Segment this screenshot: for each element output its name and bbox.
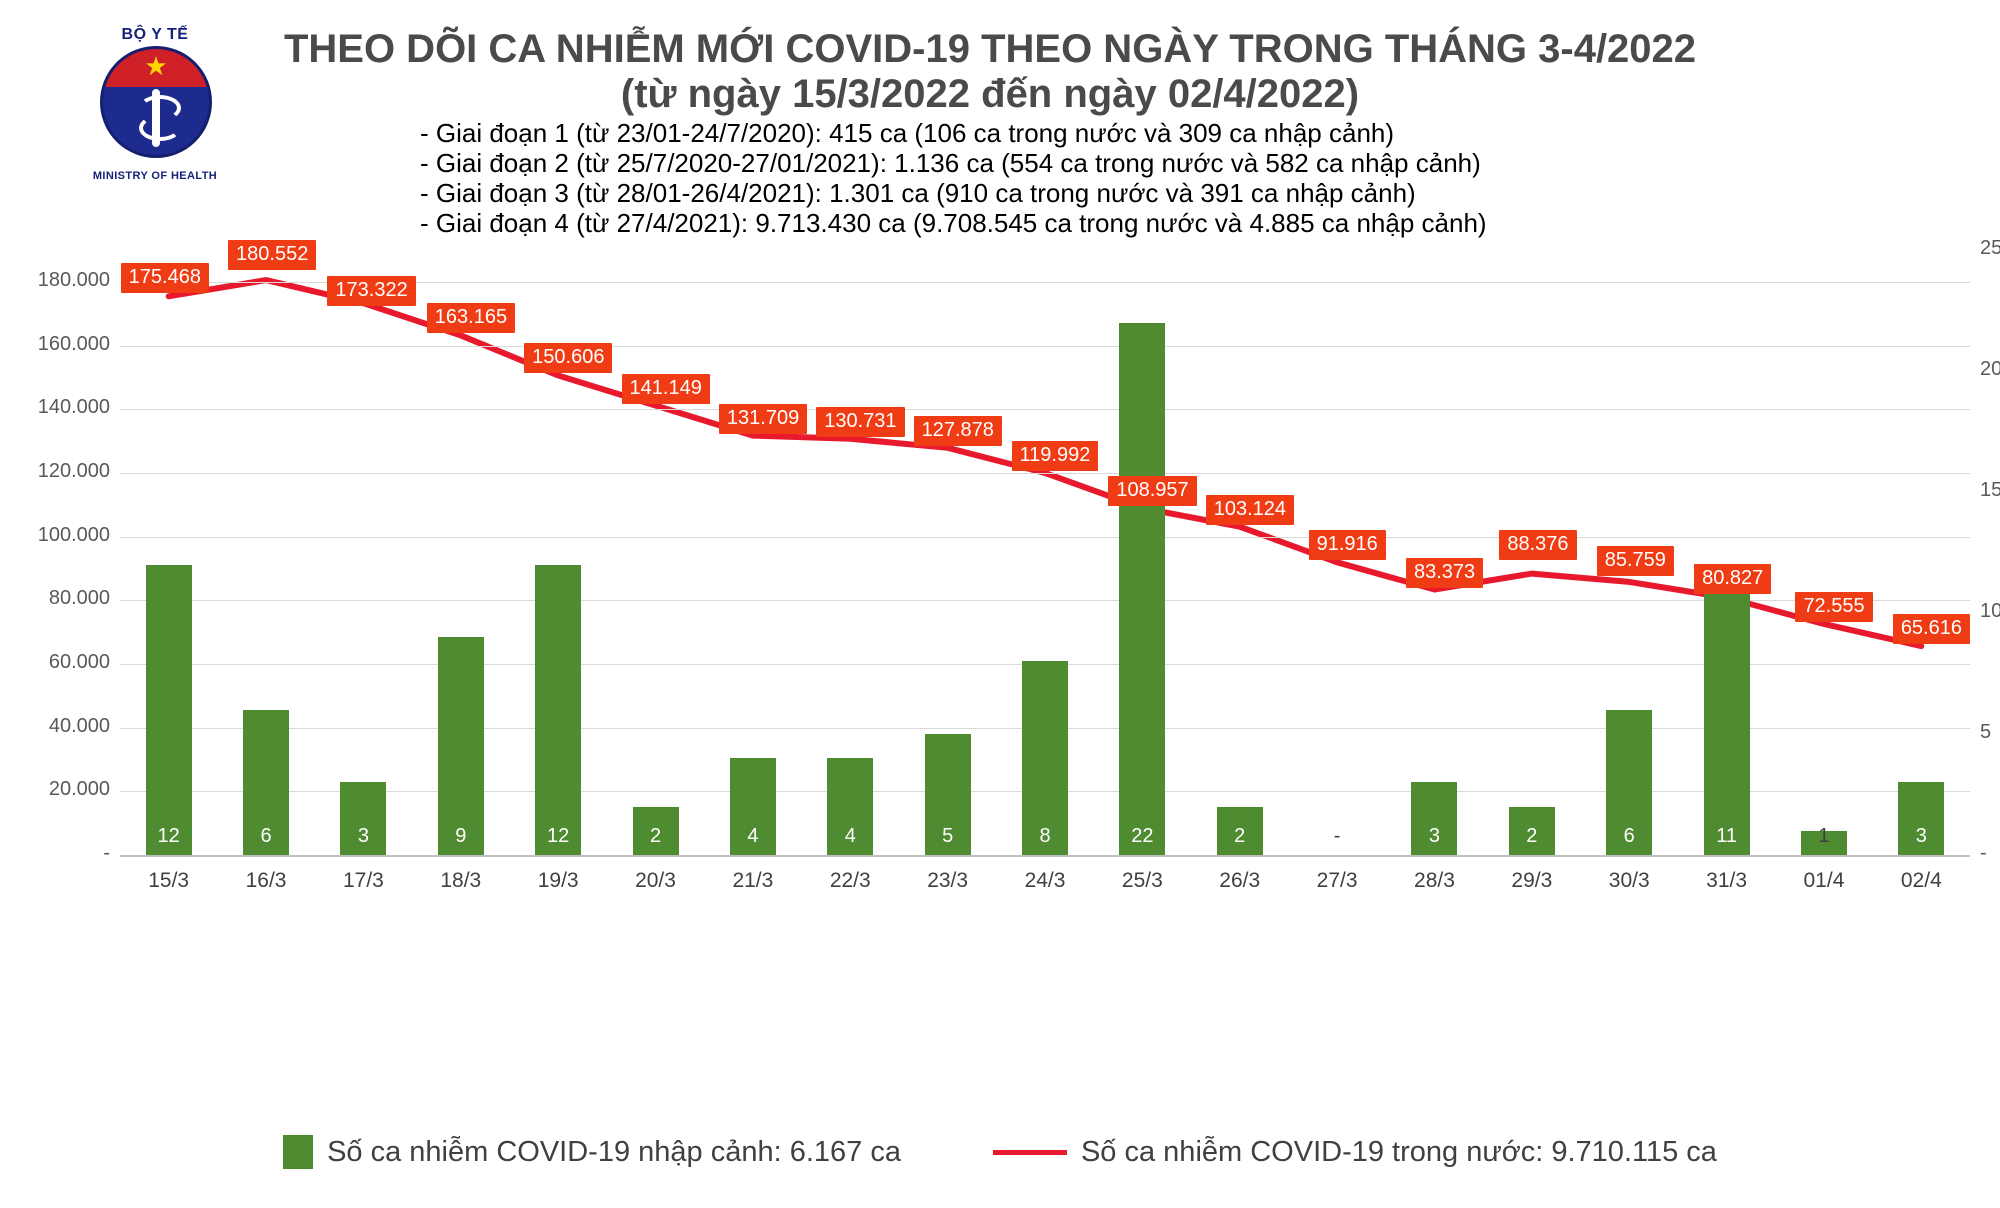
x-axis-tick-label: 24/3 xyxy=(1000,869,1090,893)
bar-value-label: 4 xyxy=(730,825,776,848)
x-axis-tick-label: 17/3 xyxy=(318,869,408,893)
line-value-label: 72.555 xyxy=(1795,592,1872,622)
logo-emblem-icon: ★ xyxy=(100,46,212,158)
x-axis-tick-label: 31/3 xyxy=(1682,869,1772,893)
x-axis-tick-label: 19/3 xyxy=(513,869,603,893)
legend-item-domestic: Số ca nhiễm COVID-19 trong nước: 9.710.1… xyxy=(993,1136,1717,1169)
x-axis-tick-label: 21/3 xyxy=(708,869,798,893)
x-axis-tick-label: 30/3 xyxy=(1584,869,1674,893)
y-axis-left-tick: 120.000 xyxy=(0,460,110,483)
x-axis-tick-label: 22/3 xyxy=(805,869,895,893)
phase-line-4: - Giai đoạn 4 (từ 27/4/2021): 9.713.430 … xyxy=(400,208,1700,238)
y-axis-left-tick: 20.000 xyxy=(0,778,110,801)
x-axis-tick-label: 15/3 xyxy=(124,869,214,893)
bar-value-label: 3 xyxy=(1898,825,1944,848)
line-value-label: 150.606 xyxy=(524,343,612,373)
gridline xyxy=(120,473,1970,474)
bar xyxy=(146,565,192,855)
line-value-label: 180.552 xyxy=(228,240,316,270)
line-value-label: 65.616 xyxy=(1893,614,1970,644)
y-axis-right-tick: 20 xyxy=(1980,358,2000,381)
chart-title: THEO DÕI CA NHIỄM MỚI COVID-19 THEO NGÀY… xyxy=(240,26,1740,73)
bar-value-label: 22 xyxy=(1119,825,1165,848)
line-value-label: 130.731 xyxy=(816,407,904,437)
bar-value-label: 2 xyxy=(1509,825,1555,848)
x-axis-tick-label: 29/3 xyxy=(1487,869,1577,893)
asclepius-snake-icon xyxy=(152,89,160,147)
line-value-label: 131.709 xyxy=(719,404,807,434)
x-axis-tick-label: 28/3 xyxy=(1389,869,1479,893)
bar-value-label: 9 xyxy=(438,825,484,848)
line-value-label: 91.916 xyxy=(1309,530,1386,560)
line-value-label: 127.878 xyxy=(914,416,1002,446)
domestic-cases-line-series xyxy=(0,240,2000,1120)
star-icon: ★ xyxy=(144,51,167,81)
phase-summary-list: - Giai đoạn 1 (từ 23/01-24/7/2020): 415 … xyxy=(400,118,1700,238)
line-value-label: 108.957 xyxy=(1108,476,1196,506)
x-axis-tick-label: 01/4 xyxy=(1779,869,1869,893)
y-axis-left-tick: 80.000 xyxy=(0,587,110,610)
line-value-label: 141.149 xyxy=(622,374,710,404)
y-axis-left-tick: 100.000 xyxy=(0,524,110,547)
logo-top-text: BỘ Y TẾ xyxy=(70,26,240,44)
y-axis-left-tick: 60.000 xyxy=(0,651,110,674)
chart-page: BỘ Y TẾ ★ MINISTRY OF HEALTH THEO DÕI CA… xyxy=(0,0,2000,1208)
bar xyxy=(1704,589,1750,855)
bar-value-label: 11 xyxy=(1704,825,1750,848)
y-axis-left-tick: 40.000 xyxy=(0,715,110,738)
bar-value-label: - xyxy=(1314,825,1360,848)
bar-value-label: 6 xyxy=(243,825,289,848)
line-value-label: 173.322 xyxy=(327,276,415,306)
line-value-label: 83.373 xyxy=(1406,558,1483,588)
x-axis-tick-label: 26/3 xyxy=(1195,869,1285,893)
bar-value-label: 5 xyxy=(925,825,971,848)
x-axis-tick-label: 16/3 xyxy=(221,869,311,893)
x-axis-tick-label: 23/3 xyxy=(903,869,993,893)
x-axis-tick-label: 25/3 xyxy=(1097,869,1187,893)
x-axis-tick-label: 18/3 xyxy=(416,869,506,893)
y-axis-right-tick: 10 xyxy=(1980,600,2000,623)
x-axis-tick-label: 20/3 xyxy=(611,869,701,893)
bar-value-label: 1 xyxy=(1801,825,1847,848)
y-axis-left-tick: 160.000 xyxy=(0,333,110,356)
y-axis-right-tick: 5 xyxy=(1980,721,2000,744)
axis-baseline xyxy=(120,855,1970,857)
line-value-label: 103.124 xyxy=(1206,495,1294,525)
line-value-label: 163.165 xyxy=(427,303,515,333)
legend-bar-label: Số ca nhiễm COVID-19 nhập cảnh: 6.167 ca xyxy=(327,1136,901,1169)
x-axis-tick-label: 02/4 xyxy=(1876,869,1966,893)
y-axis-left-tick: 180.000 xyxy=(0,269,110,292)
bar-value-label: 8 xyxy=(1022,825,1068,848)
bar xyxy=(438,637,484,855)
legend-line-label: Số ca nhiễm COVID-19 trong nước: 9.710.1… xyxy=(1081,1136,1717,1169)
phase-line-1: - Giai đoạn 1 (từ 23/01-24/7/2020): 415 … xyxy=(400,118,1700,148)
y-axis-left-tick: - xyxy=(0,842,110,865)
legend-item-imported: Số ca nhiễm COVID-19 nhập cảnh: 6.167 ca xyxy=(283,1135,901,1169)
legend-bar-swatch-icon xyxy=(283,1135,313,1169)
bar-value-label: 12 xyxy=(146,825,192,848)
y-axis-right-tick: 15 xyxy=(1980,479,2000,502)
bar-value-label: 3 xyxy=(340,825,386,848)
gridline xyxy=(120,537,1970,538)
chart-plot-area: -20.00040.00060.00080.000100.000120.0001… xyxy=(0,240,2000,1120)
gridline xyxy=(120,346,1970,347)
y-axis-left-tick: 140.000 xyxy=(0,396,110,419)
logo-bottom-text: MINISTRY OF HEALTH xyxy=(70,170,240,182)
phase-line-2: - Giai đoạn 2 (từ 25/7/2020-27/01/2021):… xyxy=(400,148,1700,178)
chart-subtitle: (từ ngày 15/3/2022 đến ngày 02/4/2022) xyxy=(240,72,1740,117)
y-axis-right-tick: 25 xyxy=(1980,237,2000,260)
gridline xyxy=(120,409,1970,410)
phase-line-3: - Giai đoạn 3 (từ 28/01-26/4/2021): 1.30… xyxy=(400,178,1700,208)
x-axis-tick-label: 27/3 xyxy=(1292,869,1382,893)
bar-value-label: 6 xyxy=(1606,825,1652,848)
chart-legend: Số ca nhiễm COVID-19 nhập cảnh: 6.167 ca… xyxy=(0,1135,2000,1169)
line-value-label: 85.759 xyxy=(1597,546,1674,576)
bar-value-label: 4 xyxy=(827,825,873,848)
line-value-label: 88.376 xyxy=(1499,530,1576,560)
line-value-label: 175.468 xyxy=(121,263,209,293)
bar-value-label: 12 xyxy=(535,825,581,848)
legend-line-swatch-icon xyxy=(993,1150,1067,1155)
line-value-label: 119.992 xyxy=(1012,441,1099,471)
gridline xyxy=(120,600,1970,601)
bar-value-label: 2 xyxy=(1217,825,1263,848)
y-axis-right-tick: - xyxy=(1980,842,2000,865)
bar xyxy=(1119,323,1165,855)
ministry-of-health-logo: BỘ Y TẾ ★ MINISTRY OF HEALTH xyxy=(70,18,240,188)
line-value-label: 80.827 xyxy=(1694,564,1771,594)
bar xyxy=(535,565,581,855)
bar-value-label: 3 xyxy=(1411,825,1457,848)
bar-value-label: 2 xyxy=(633,825,679,848)
